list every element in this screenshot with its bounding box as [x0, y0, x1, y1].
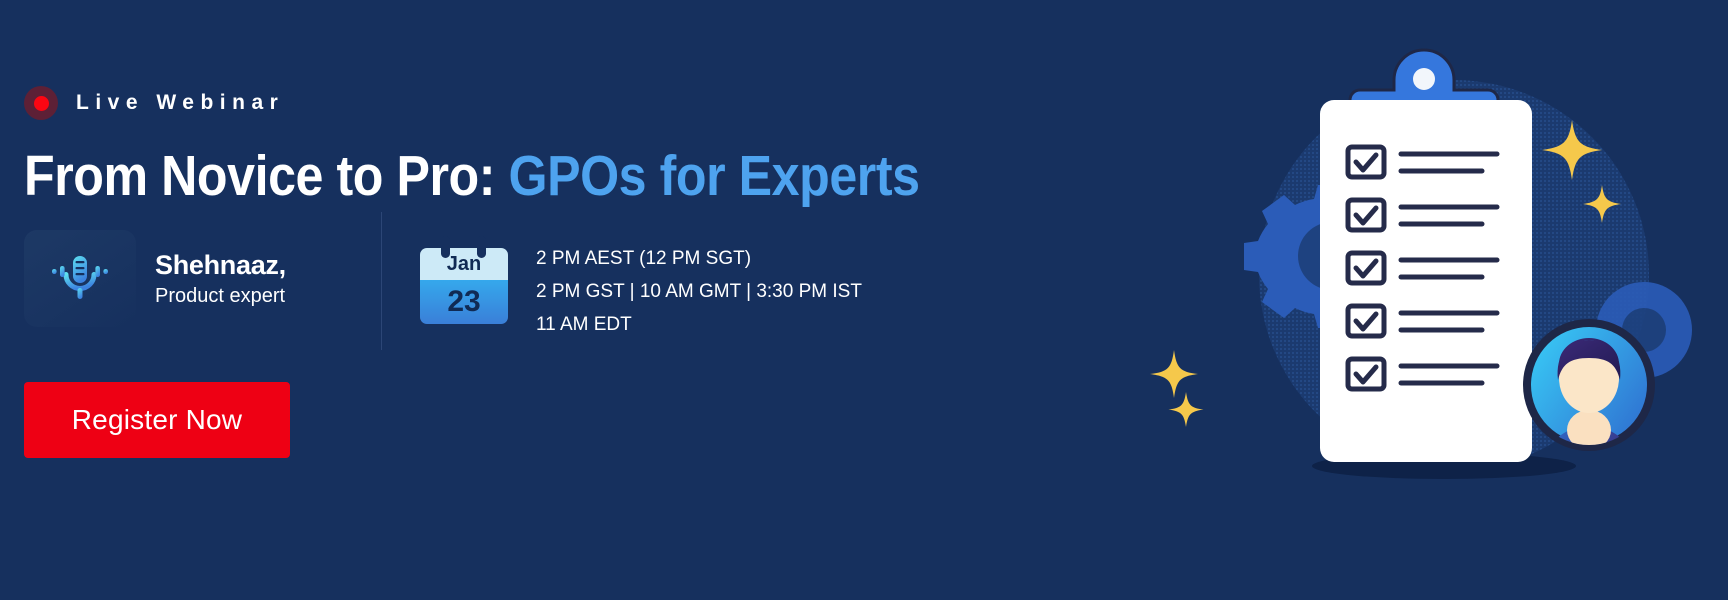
- speaker-block: Shehnaaz, Product expert: [24, 230, 286, 327]
- section-divider: [381, 212, 382, 350]
- page-title: From Novice to Pro: GPOs for Experts: [24, 140, 920, 212]
- calendar-ring-left: [441, 236, 450, 258]
- banner-content: Live Webinar From Novice to Pro: GPOs fo…: [24, 0, 1124, 600]
- calendar-month: Jan: [420, 248, 508, 280]
- timezone-line: 2 PM AEST (12 PM SGT): [536, 242, 862, 275]
- timezone-line: 11 AM EDT: [536, 308, 862, 341]
- headline-primary: From Novice to Pro:: [24, 144, 495, 208]
- live-dot-inner: [34, 96, 49, 111]
- sparkle-star: [1150, 350, 1198, 398]
- sparkle-star: [1169, 392, 1204, 427]
- event-schedule: Jan 23 2 PM AEST (12 PM SGT) 2 PM GST | …: [420, 228, 862, 341]
- speaker-meta: Shehnaaz, Product expert: [155, 248, 286, 310]
- live-dot-icon: [24, 86, 58, 120]
- calendar-icon: Jan 23: [420, 236, 508, 324]
- register-now-button[interactable]: Register Now: [24, 382, 290, 458]
- microphone-icon: [24, 230, 136, 327]
- live-webinar-label: Live Webinar: [76, 91, 284, 115]
- webinar-banner: Live Webinar From Novice to Pro: GPOs fo…: [0, 0, 1728, 600]
- calendar-day: 23: [420, 280, 508, 324]
- calendar-ring-right: [477, 236, 486, 258]
- speaker-role: Product expert: [155, 282, 286, 310]
- clipboard-checklist-illustration: [1124, 0, 1728, 600]
- timezone-line: 2 PM GST | 10 AM GMT | 3:30 PM IST: [536, 275, 862, 308]
- timezone-list: 2 PM AEST (12 PM SGT) 2 PM GST | 10 AM G…: [536, 228, 862, 341]
- headline-accent: GPOs for Experts: [509, 144, 920, 208]
- speaker-name: Shehnaaz,: [155, 248, 286, 282]
- live-webinar-badge: Live Webinar: [24, 86, 284, 120]
